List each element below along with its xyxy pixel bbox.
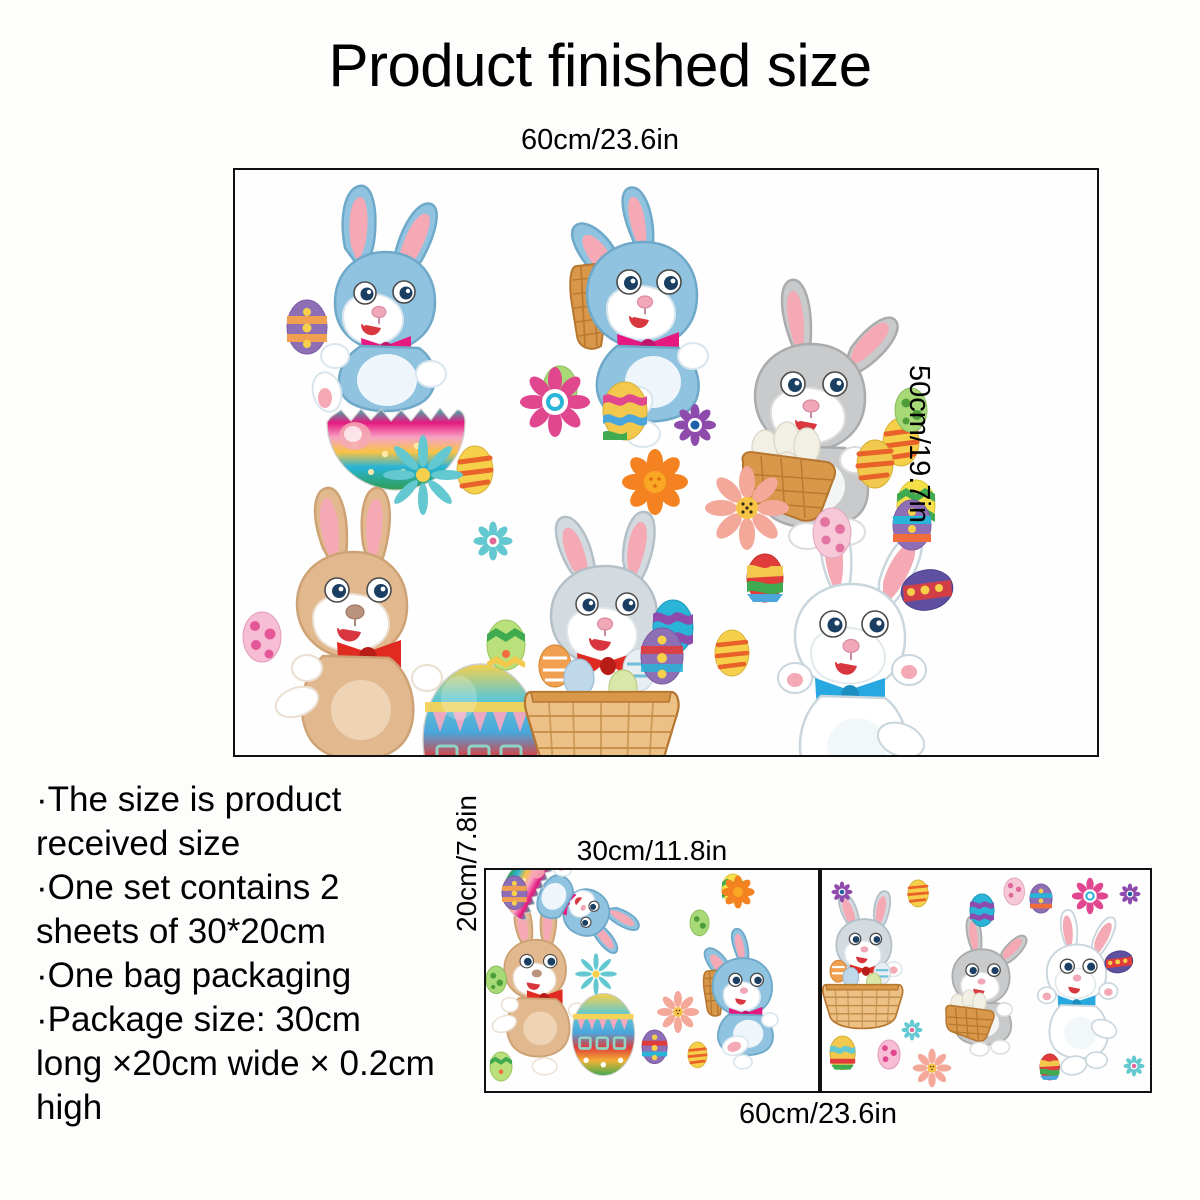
large-decorated-egg-small [572, 993, 635, 1075]
sheet-width-label: 30cm/11.8in [484, 836, 820, 866]
sheet-left [484, 868, 820, 1093]
note-item-2: ·One set contains 2 sheets of 30*20cm [36, 866, 436, 954]
white-bunny-jumping-small [1038, 910, 1120, 1077]
main-artwork [235, 170, 1099, 757]
white-bunny-jumping [778, 520, 929, 757]
sheets-total-width-label: 60cm/23.6in [484, 1098, 1152, 1130]
product-size-infographic: Product finished size 60cm/23.6in [0, 0, 1200, 1200]
main-height-label: 50cm/19.7in [904, 365, 934, 523]
sheet-left-artwork [486, 870, 818, 1091]
sheet-right [820, 868, 1152, 1093]
sheet-height-label: 20cm/7.8in [452, 795, 482, 932]
grey-bunny-carrying-eggs-small [946, 916, 1027, 1056]
blue-bunny-in-egg [309, 186, 465, 490]
main-width-label: 60cm/23.6in [0, 124, 1200, 156]
sheets-container [484, 868, 1152, 1093]
note-item-1: ·The size is product received size [36, 778, 436, 866]
woven-basket [525, 692, 679, 757]
notes-list: ·The size is product received size ·One … [36, 778, 436, 1130]
blue-bunny-with-basket-small [704, 929, 778, 1069]
main-preview-frame [233, 168, 1099, 757]
note-item-3: ·One bag packaging [36, 954, 436, 998]
sheet-right-artwork [822, 870, 1150, 1091]
grey-bunny-in-basket-small [823, 891, 903, 1028]
note-item-4: ·Package size: 30cm long ×20cm wide × 0.… [36, 998, 436, 1130]
page-title: Product finished size [0, 34, 1200, 98]
